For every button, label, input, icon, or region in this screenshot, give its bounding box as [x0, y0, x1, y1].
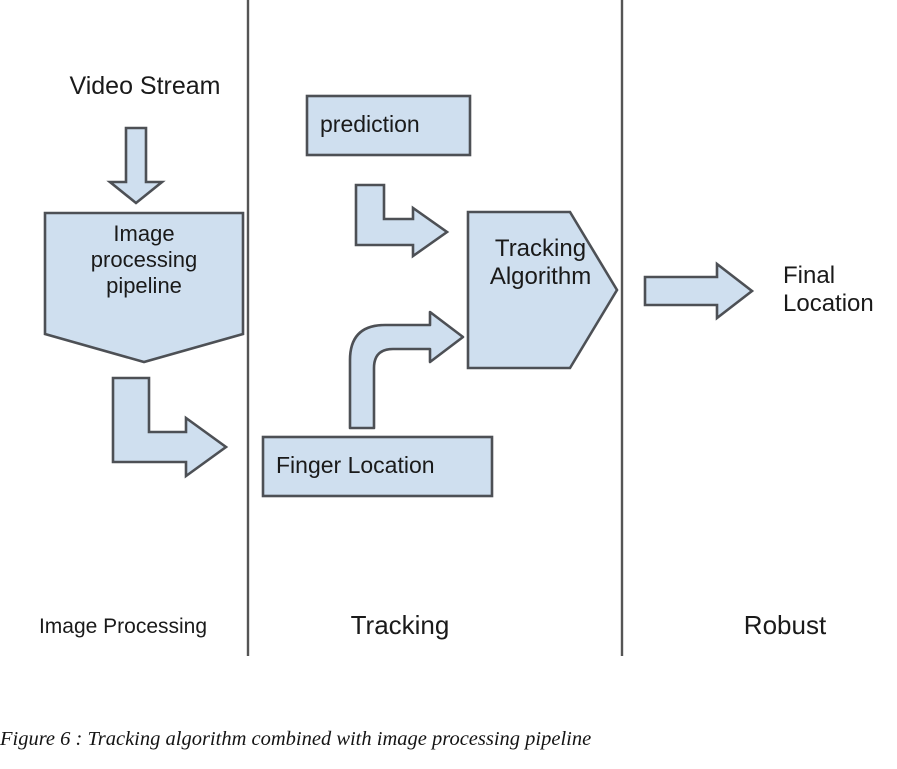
figure-caption: Figure 6 : Tracking algorithm combined w…: [0, 727, 880, 751]
final-location-line-2: Location: [783, 290, 874, 317]
pipeline-line-3: pipeline: [106, 273, 182, 298]
arrow-tracking-to-final-location-icon: [645, 264, 752, 318]
arrow-video-to-pipeline-icon: [110, 128, 162, 203]
pipeline-line-2: processing: [91, 247, 197, 272]
stage-label-robust: Robust: [690, 610, 880, 641]
label-video-stream: Video Stream: [40, 72, 250, 102]
pipeline-line-1: Image: [113, 221, 174, 246]
label-final-location: FinalLocation: [783, 262, 897, 319]
label-image-processing-pipeline: Imageprocessingpipeline: [46, 221, 242, 299]
tracking-algorithm-line-1: Tracking: [495, 235, 586, 262]
final-location-line-1: Final: [783, 262, 835, 289]
arrow-finger-location-to-tracking-icon: [350, 312, 463, 428]
label-prediction: prediction: [320, 111, 470, 138]
label-tracking-algorithm: TrackingAlgorithm: [478, 235, 603, 292]
tracking-algorithm-line-2: Algorithm: [490, 263, 591, 290]
stage-label-image-processing: Image Processing: [4, 615, 242, 640]
arrow-pipeline-to-finger-location-icon: [113, 378, 226, 476]
arrow-prediction-to-tracking-icon: [356, 185, 447, 256]
stage-label-tracking: Tracking: [280, 610, 520, 641]
label-finger-location: Finger Location: [276, 452, 486, 479]
